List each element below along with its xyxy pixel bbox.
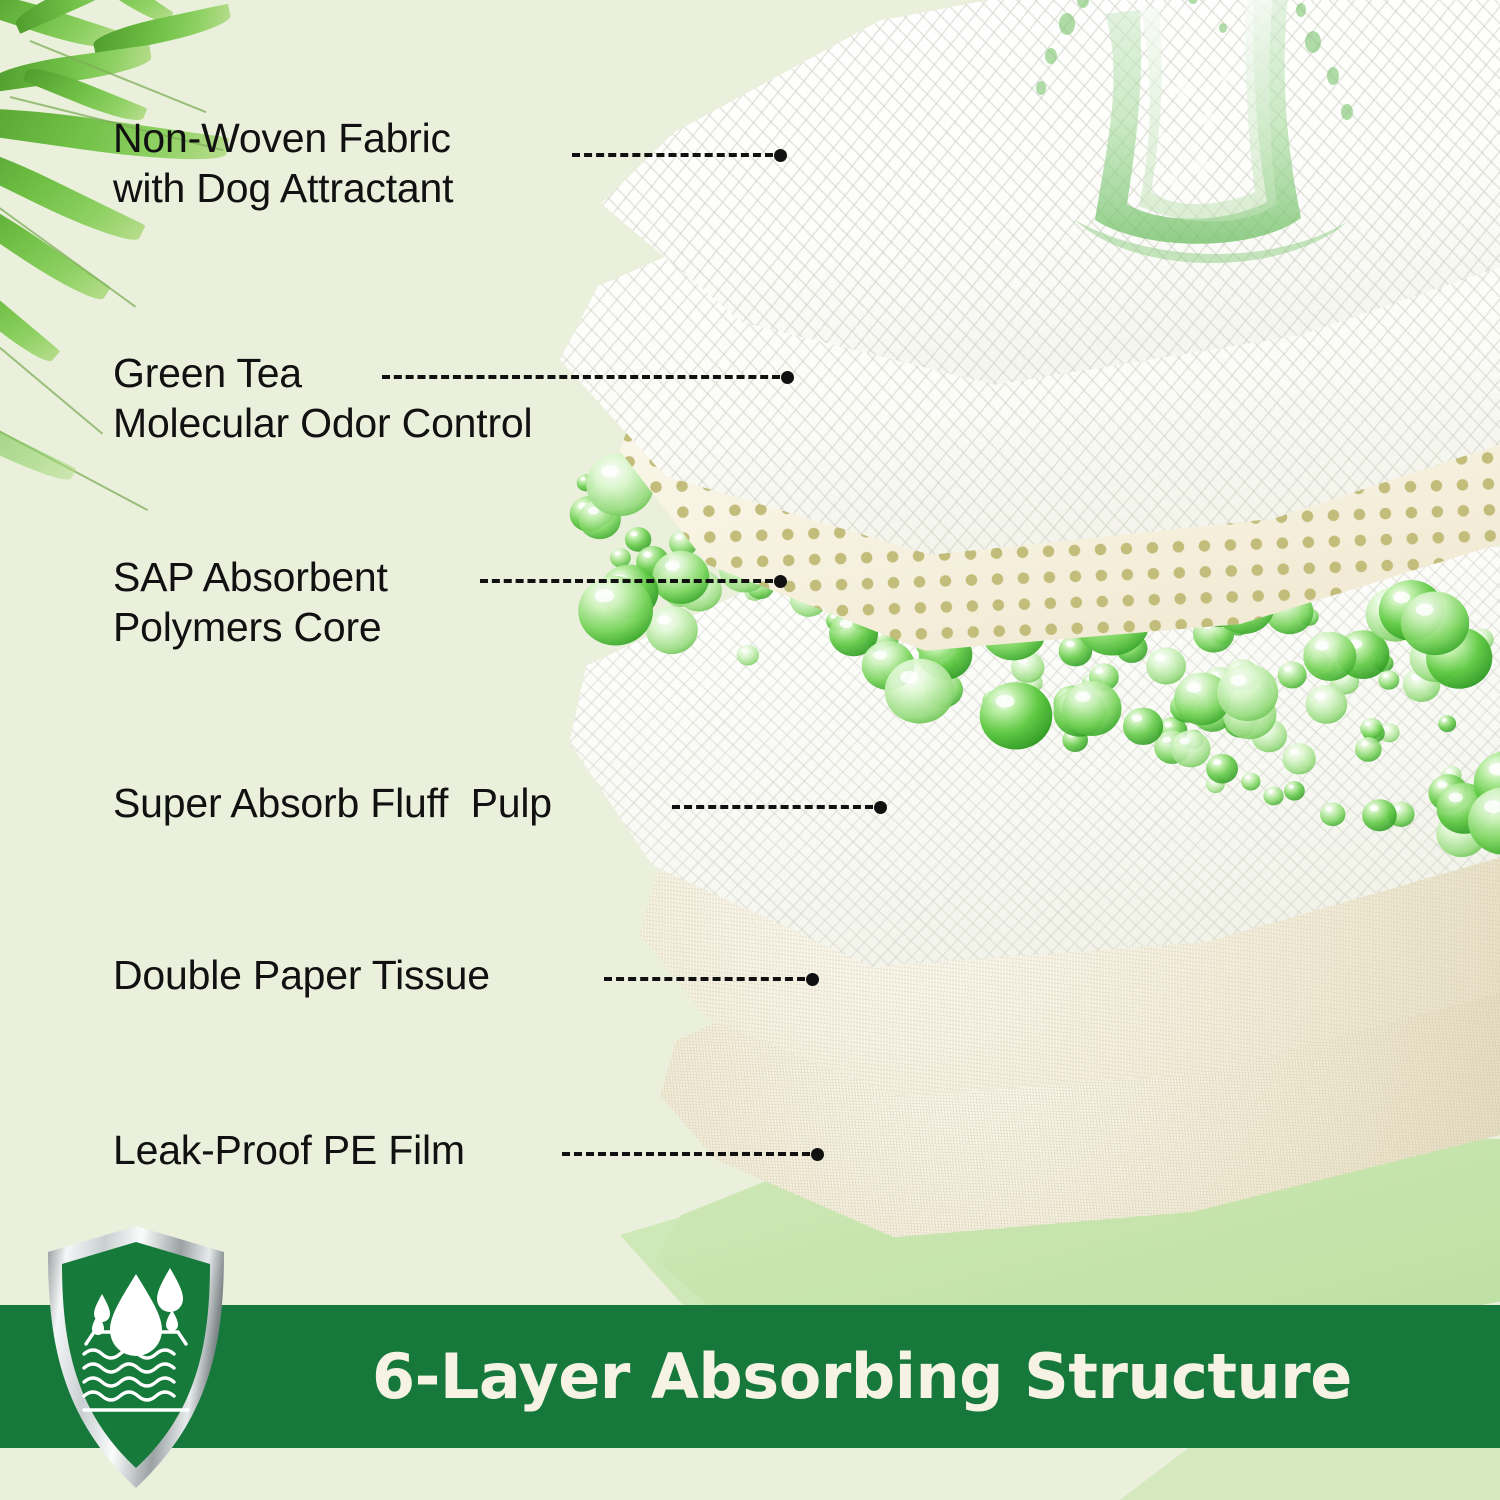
callout-label-line1: SAP Absorbent <box>113 552 388 602</box>
callout-label-line1: Super Absorb Fluff Pulp <box>113 778 552 828</box>
dashed-leader-line-5 <box>604 974 819 984</box>
water-drop-absorption-shield-icon <box>42 1222 230 1492</box>
callout-label-line2: Molecular Odor Control <box>113 398 532 448</box>
leader-endpoint-dot <box>806 973 819 986</box>
callout-label-line1: Non-Woven Fabric <box>113 113 453 163</box>
callout-sap-core: SAP Absorbent Polymers Core <box>113 552 388 653</box>
infographic-canvas: Non-Woven Fabric with Dog Attractant Gre… <box>0 0 1500 1500</box>
dashed-leader-line-3 <box>480 576 787 586</box>
dashed-leader-line-6 <box>562 1149 824 1159</box>
dashed-leader-line-1 <box>572 150 787 160</box>
callout-non-woven-fabric: Non-Woven Fabric with Dog Attractant <box>113 113 453 214</box>
callout-green-tea: Green Tea Molecular Odor Control <box>113 348 532 449</box>
callout-paper-tissue: Double Paper Tissue <box>113 950 490 1000</box>
callout-pe-film: Leak-Proof PE Film <box>113 1125 465 1175</box>
pe-film-corner-accent <box>1120 1448 1500 1500</box>
dashed-leader-line-2 <box>382 372 794 382</box>
callout-label-line2: with Dog Attractant <box>113 163 453 213</box>
callout-label-line2: Polymers Core <box>113 602 388 652</box>
leader-endpoint-dot <box>774 149 787 162</box>
leader-endpoint-dot <box>781 371 794 384</box>
leader-endpoint-dot <box>811 1148 824 1161</box>
dashed-leader-line-4 <box>672 802 887 812</box>
callout-label-line1: Leak-Proof PE Film <box>113 1125 465 1175</box>
callout-fluff-pulp: Super Absorb Fluff Pulp <box>113 778 552 828</box>
leader-endpoint-dot <box>774 575 787 588</box>
callout-label-line1: Double Paper Tissue <box>113 950 490 1000</box>
leader-endpoint-dot <box>874 801 887 814</box>
banner-title: 6-Layer Absorbing Structure <box>372 1340 1352 1413</box>
